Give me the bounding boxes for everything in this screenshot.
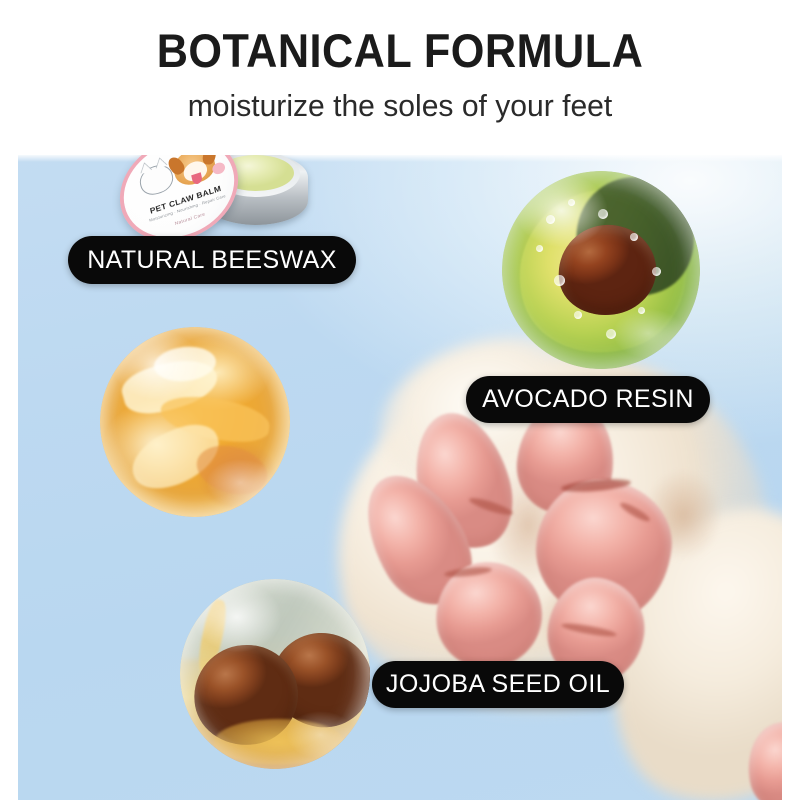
ingredient-badge-label: NATURAL BEESWAX: [87, 246, 337, 275]
glass-bubble-overlay: [100, 327, 290, 517]
dog-head-icon: [171, 155, 218, 189]
ingredient-badge-beeswax: NATURAL BEESWAX: [68, 236, 356, 284]
header-banner: BOTANICAL FORMULA moisturize the soles o…: [0, 0, 800, 155]
ingredient-badge-label: JOJOBA SEED OIL: [386, 670, 610, 699]
page-subtitle: moisturize the soles of your feet: [12, 90, 788, 121]
dog-tongue: [191, 172, 203, 185]
ingredient-badge-jojoba: JOJOBA SEED OIL: [372, 661, 624, 708]
glass-bubble-overlay: [180, 579, 370, 769]
jojoba-seed-oil-sphere-image: [180, 579, 370, 769]
beeswax-sphere-image: [100, 327, 290, 517]
ingredient-badge-avocado: AVOCADO RESIN: [466, 376, 710, 423]
product-tin: PET CLAW BALM Moisturizing · Nourishing …: [118, 155, 308, 240]
glass-bubble-overlay: [502, 171, 700, 369]
avocado-sphere-image: [502, 171, 700, 369]
page-title: BOTANICAL FORMULA: [32, 27, 768, 74]
ingredient-badge-label: AVOCADO RESIN: [482, 385, 694, 414]
